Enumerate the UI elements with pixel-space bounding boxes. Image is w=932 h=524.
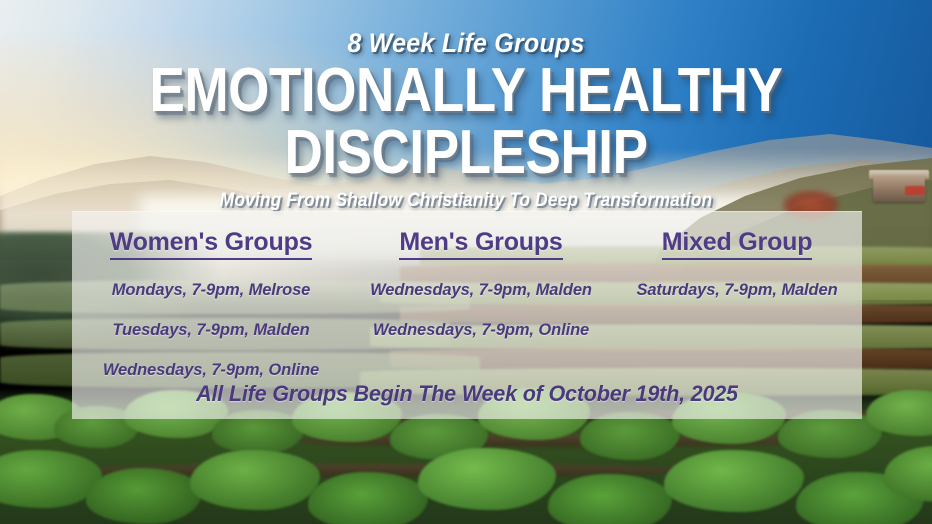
tagline-text: Moving From Shallow Christianity To Deep… bbox=[37, 190, 894, 212]
page-title: EMOTIONALLY HEALTHY DISCIPLESHIP bbox=[68, 60, 865, 184]
schedule-line: Wednesdays, 7-9pm, Malden bbox=[354, 280, 608, 300]
column-heading: Mixed Group bbox=[662, 228, 813, 260]
schedule-line: Mondays, 7-9pm, Melrose bbox=[76, 280, 346, 300]
column-womens-groups: Women's Groups Mondays, 7-9pm, Melrose T… bbox=[72, 212, 350, 380]
column-mixed-group: Mixed Group Saturdays, 7-9pm, Malden bbox=[612, 212, 862, 300]
column-mens-groups: Men's Groups Wednesdays, 7-9pm, Malden W… bbox=[350, 212, 612, 340]
start-date-note: All Life Groups Begin The Week of Octobe… bbox=[80, 381, 854, 407]
schedule-line: Tuesdays, 7-9pm, Malden bbox=[76, 320, 346, 340]
eyebrow-text: 8 Week Life Groups bbox=[33, 28, 900, 59]
schedule-columns: Women's Groups Mondays, 7-9pm, Melrose T… bbox=[72, 212, 862, 372]
column-heading: Women's Groups bbox=[110, 228, 313, 260]
schedule-line: Wednesdays, 7-9pm, Online bbox=[76, 360, 346, 380]
header-block: 8 Week Life Groups EMOTIONALLY HEALTHY D… bbox=[0, 0, 932, 212]
column-heading: Men's Groups bbox=[399, 228, 562, 260]
promo-slide: 8 Week Life Groups EMOTIONALLY HEALTHY D… bbox=[0, 0, 932, 524]
schedule-panel: Women's Groups Mondays, 7-9pm, Melrose T… bbox=[72, 211, 862, 419]
schedule-line: Wednesdays, 7-9pm, Online bbox=[354, 320, 608, 340]
schedule-line: Saturdays, 7-9pm, Malden bbox=[616, 280, 859, 300]
